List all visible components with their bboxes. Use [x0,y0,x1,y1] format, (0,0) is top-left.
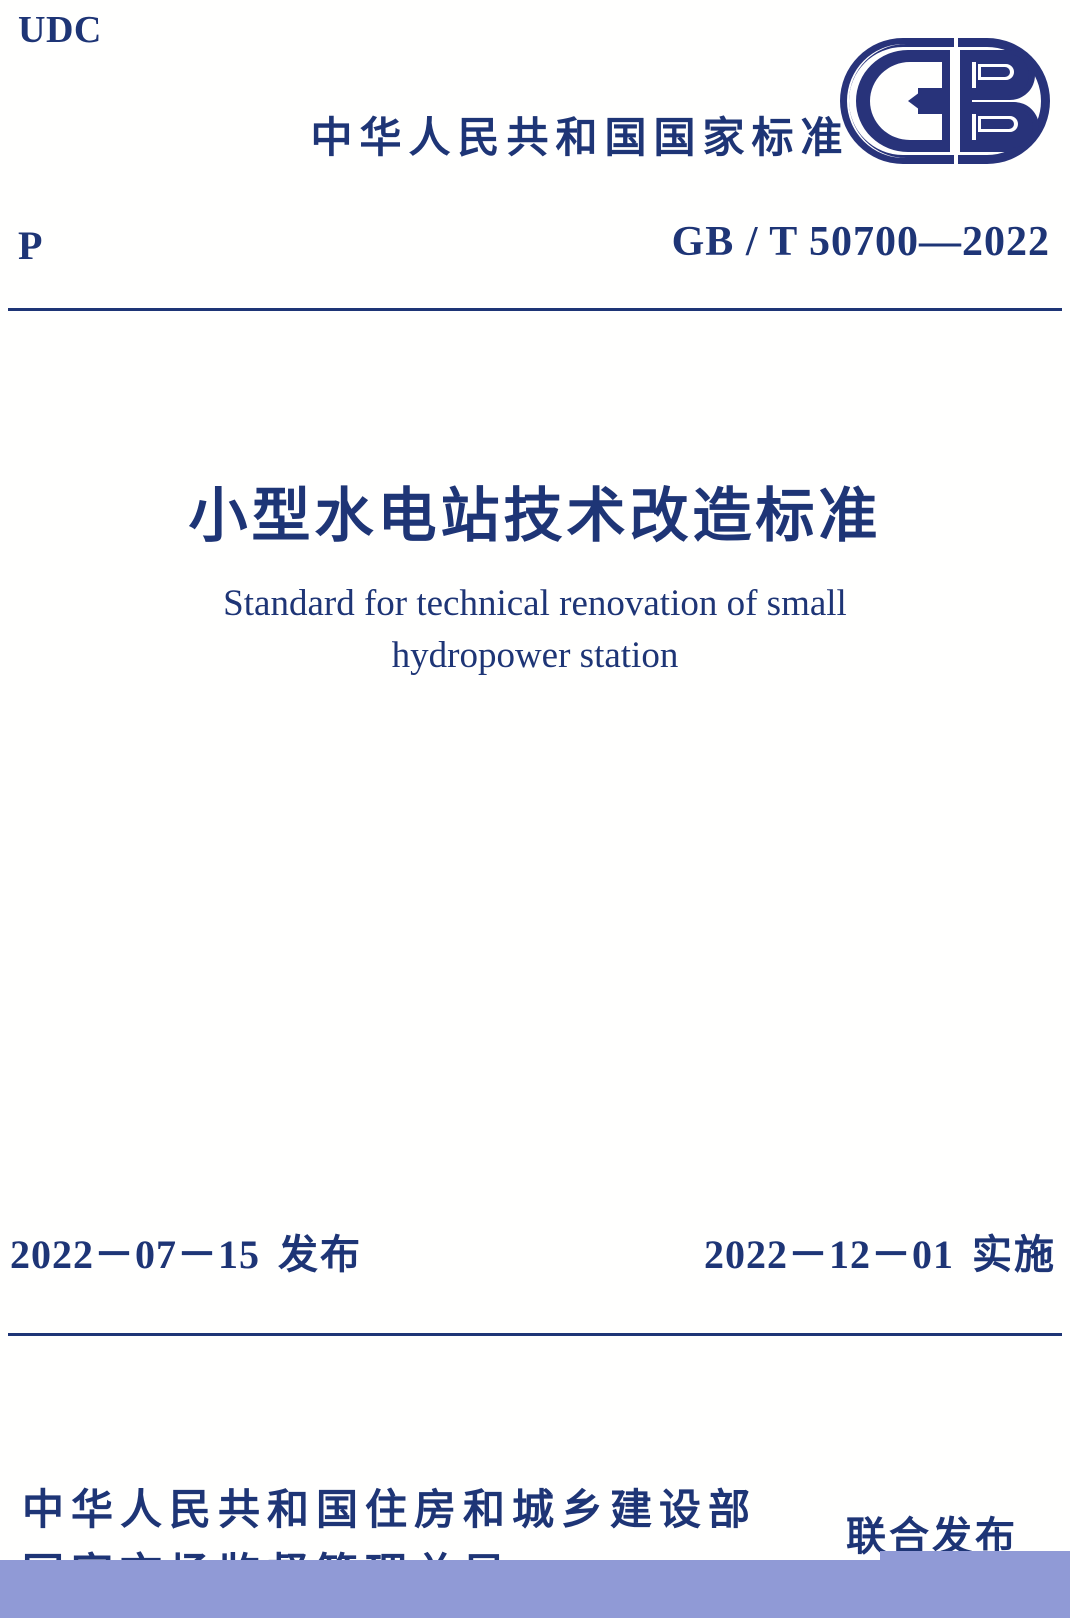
title-english-line-1: Standard for technical renovation of sma… [120,578,950,630]
effective-verb: 实施 [972,1232,1056,1278]
overlay-bar [0,1560,1070,1618]
issue-verb: 发布 [278,1232,362,1278]
issue-date: 2022－07－15 [10,1232,260,1277]
effective-date-group: 2022－12－01实施 [704,1222,1056,1280]
effective-date: 2022－12－01 [704,1232,954,1277]
title-english-line-2: hydropower station [120,630,950,682]
standard-number: GB / T 50700—2022 [672,218,1050,266]
document-page: UDC 中华人民共和国国家标准 [0,0,1070,1618]
udc-label: UDC [18,8,102,52]
header-divider-rule [8,308,1062,311]
title-english: Standard for technical renovation of sma… [120,578,950,682]
date-row: 2022－07－15发布 2022－12－01实施 [10,1222,1056,1280]
issue-date-group: 2022－07－15发布 [10,1222,362,1280]
classification-letter: P [18,222,42,269]
gb-emblem-icon [838,36,1052,166]
title-chinese: 小型水电站技术改造标准 [0,468,1070,553]
footer-divider-rule [8,1333,1062,1336]
